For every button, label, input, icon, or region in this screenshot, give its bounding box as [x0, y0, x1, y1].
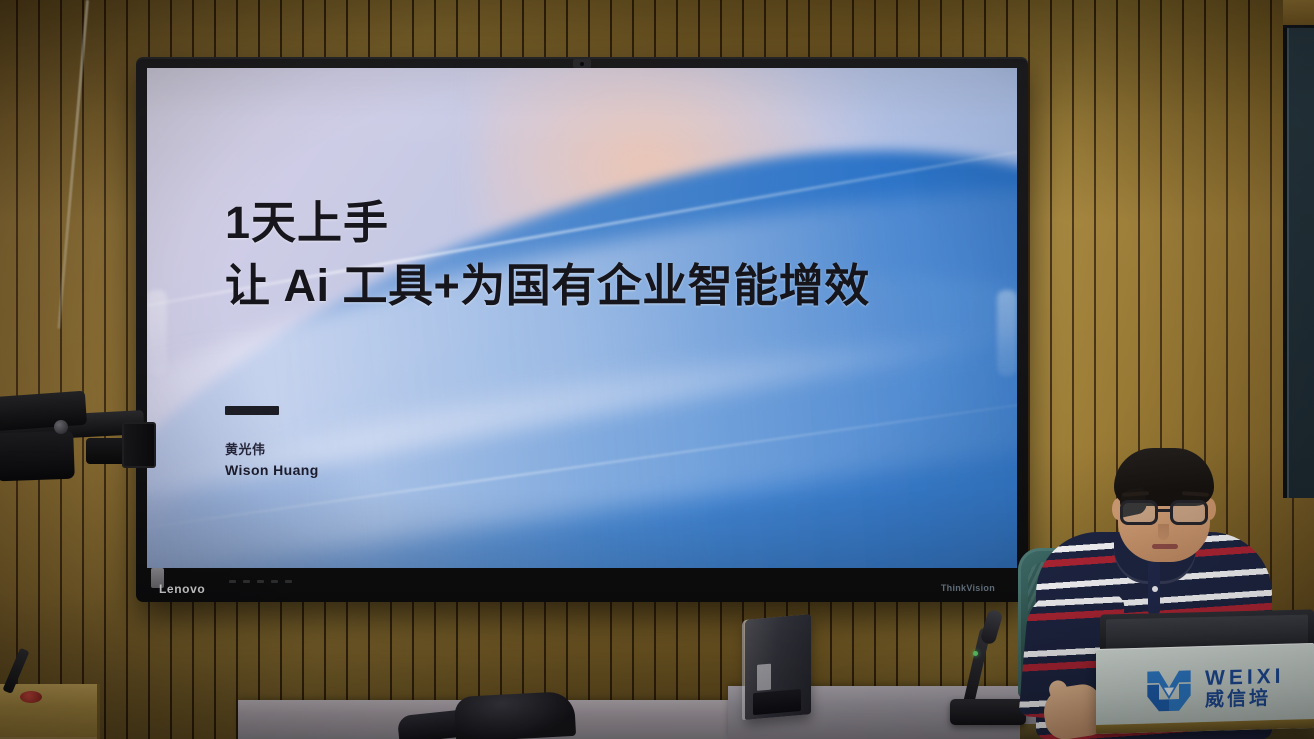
- bag-on-desk: [454, 691, 576, 739]
- slide-presenter-name-en: Wison Huang: [225, 462, 319, 478]
- bezel-control-buttons[interactable]: [229, 580, 292, 583]
- presenter-hair: [1114, 448, 1214, 506]
- presentation-slide: 1天上手 让 Ai 工具+为国有企业智能增效 黄光伟 Wison Huang: [147, 68, 1017, 568]
- thinkvision-brand-label: ThinkVision: [941, 583, 995, 593]
- rig-body: [0, 391, 87, 432]
- placard-brand-cn: 威信培: [1205, 688, 1285, 712]
- eyeglass-bridge: [1158, 509, 1172, 512]
- rig-camera-head: [0, 431, 75, 482]
- display-screen[interactable]: 1天上手 让 Ai 工具+为国有企业智能增效 黄光伟 Wison Huang: [147, 68, 1017, 568]
- weixin-w-logo-icon: [1142, 665, 1196, 717]
- interactive-flat-panel[interactable]: 1天上手 让 Ai 工具+为国有企业智能增效 黄光伟 Wison Huang L…: [136, 57, 1028, 602]
- laptop-rear-view: [745, 614, 811, 720]
- laptop-hinge: [753, 689, 801, 715]
- rig-wall-mount: [122, 422, 156, 468]
- rig-pivot-bolt: [54, 420, 68, 434]
- slide-presenter-name-cn: 黄光伟: [225, 439, 266, 458]
- lenovo-brand-label: Lenovo: [159, 582, 205, 596]
- wall-mounted-camera-rig: [0, 388, 160, 492]
- right-wall-strip: [1283, 0, 1314, 28]
- lecture-room-scene: 1天上手 让 Ai 工具+为国有企业智能增效 黄光伟 Wison Huang L…: [0, 0, 1314, 739]
- presenter-nose: [1158, 524, 1169, 540]
- bezel-camera-icon: [573, 59, 591, 68]
- gooseneck-microphone-base[interactable]: [950, 699, 1026, 725]
- slide-title-block: 1天上手 让 Ai 工具+为国有企业智能增效: [225, 196, 870, 312]
- podium-microphone-head: [20, 691, 42, 703]
- presenter-mouth: [1152, 544, 1178, 549]
- eyeglass-lens-right: [1170, 500, 1208, 525]
- polo-button: [1152, 586, 1158, 592]
- slide-headline: 1天上手: [225, 196, 870, 249]
- slide-divider-rule: [225, 406, 279, 415]
- placard-brand-en: WEIXI: [1205, 665, 1285, 690]
- wooden-podium: [0, 684, 100, 739]
- laptop-sticker: [757, 664, 771, 691]
- microphone-status-led: [973, 651, 978, 656]
- slide-subheadline: 让 Ai 工具+为国有企业智能增效: [225, 259, 870, 312]
- eyeglass-lens-left: [1120, 500, 1158, 525]
- name-placard: WEIXI 威信培: [1096, 643, 1314, 734]
- secondary-display-panel: [1283, 28, 1314, 498]
- display-bottom-bezel: Lenovo ThinkVision: [147, 568, 1017, 602]
- eyeglasses-icon: [1118, 500, 1212, 526]
